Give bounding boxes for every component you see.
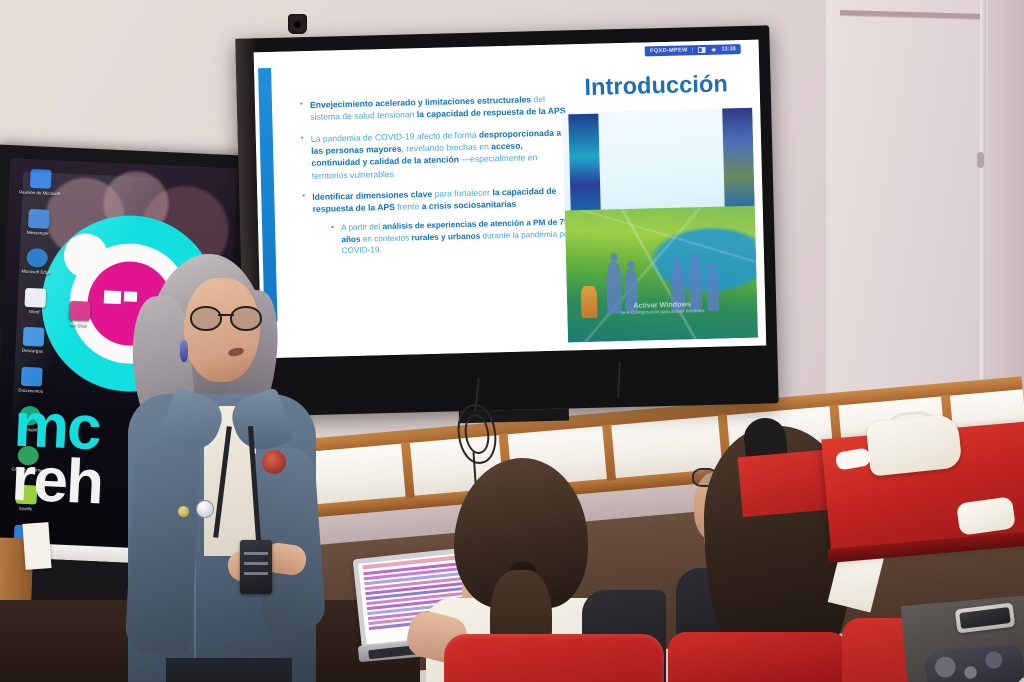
eyeglasses-icon bbox=[190, 306, 262, 328]
desktop-icon-label: Descargas bbox=[9, 347, 55, 355]
monitor-wordmark: mc reh bbox=[10, 399, 105, 510]
attendee-center-seated bbox=[432, 458, 662, 682]
bullet-run-light: para fortalecer bbox=[434, 188, 492, 199]
red-chair-back bbox=[444, 634, 664, 682]
webcam-icon bbox=[288, 14, 307, 34]
display-osd-banner: FQXD-MPEW | 13:38 bbox=[645, 44, 741, 56]
jacket-button bbox=[178, 506, 189, 517]
slide-bullet-3: Identificar dimensiones clave para forta… bbox=[301, 185, 572, 216]
display-cast-icon bbox=[697, 47, 705, 53]
desktop-icon[interactable]: Microsoft Edge bbox=[13, 247, 60, 276]
bullet-run-light: en contextos bbox=[363, 233, 412, 243]
bullet-run-light: frente bbox=[397, 202, 422, 213]
desktop-icon-label: Word bbox=[11, 308, 57, 316]
presenter-arm-left bbox=[125, 442, 202, 655]
presenter-arm-right bbox=[252, 446, 327, 632]
slide-bullet-1: Envejecimiento acelerado y limitaciones … bbox=[299, 92, 570, 123]
presentation-slide: Introducción Envejecimiento acelerado y … bbox=[254, 40, 767, 359]
slide-bullet-4-sub: A partir del análisis de experiencias de… bbox=[330, 216, 573, 257]
door-knob[interactable] bbox=[977, 152, 984, 168]
slide-title: Introducción bbox=[568, 70, 744, 101]
white-bag bbox=[865, 413, 962, 476]
pin-badge bbox=[196, 500, 214, 518]
desktop-icon-label: Reunión de Microsoft bbox=[17, 189, 63, 197]
desktop-icon[interactable]: Reunión de Microsoft bbox=[17, 168, 64, 197]
slide-bullet-2: La pandemia de COVID-19 afectó de forma … bbox=[300, 126, 571, 182]
bullet-run-bold: rurales y urbanos bbox=[411, 231, 482, 242]
slide-bullet-list: Envejecimiento acelerado y limitaciones … bbox=[299, 92, 573, 267]
desktop-icon[interactable]: My Chat bbox=[59, 300, 100, 328]
desktop-icon-label: Messenger bbox=[15, 229, 61, 237]
slide-photo-collage: Activar Windows Ve a Configuración para … bbox=[562, 108, 758, 343]
osd-source-label: FQXD-MPEW bbox=[650, 47, 688, 54]
bullet-run-light: A partir del bbox=[341, 222, 383, 232]
presenter-lower-body bbox=[166, 658, 292, 682]
wordmark-line-2: reh bbox=[10, 452, 103, 509]
desktop-icon-label: Microsoft Edge bbox=[13, 268, 59, 276]
osd-clock: 13:38 bbox=[721, 46, 735, 52]
brooch bbox=[262, 450, 286, 474]
earring bbox=[180, 340, 188, 362]
desktop-icon[interactable]: Documentos bbox=[8, 366, 55, 395]
presenter-standing bbox=[132, 244, 312, 682]
red-chair-back bbox=[668, 632, 848, 682]
paper-sheet bbox=[22, 522, 51, 570]
photo-figure-child bbox=[581, 286, 598, 318]
name-badge bbox=[240, 540, 272, 594]
bullet-run-bold: a crisis sociosanitarias bbox=[422, 199, 517, 211]
bullet-run-bold: Identificar dimensiones clave bbox=[312, 189, 434, 202]
desktop-icon[interactable]: Descargas bbox=[9, 326, 56, 355]
desktop-icon[interactable]: Messenger bbox=[15, 208, 62, 237]
tv-screen[interactable]: Introducción Envejecimiento acelerado y … bbox=[254, 40, 767, 359]
wall-mounted-display[interactable]: Introducción Envejecimiento acelerado y … bbox=[235, 25, 778, 416]
osd-separator: | bbox=[692, 47, 694, 53]
bullet-run-bold: la capacidad de respuesta de la APS bbox=[417, 106, 566, 120]
windows-activation-watermark: Activar Windows Ve a Configuración para … bbox=[620, 300, 704, 316]
wifi-icon bbox=[709, 47, 717, 53]
bullet-run-light: , revelando brechas en bbox=[401, 141, 491, 153]
presentation-room-scene: Reunión de Microsoft Messenger Microsoft… bbox=[0, 0, 1024, 682]
desktop-icon[interactable]: Word bbox=[11, 287, 58, 316]
